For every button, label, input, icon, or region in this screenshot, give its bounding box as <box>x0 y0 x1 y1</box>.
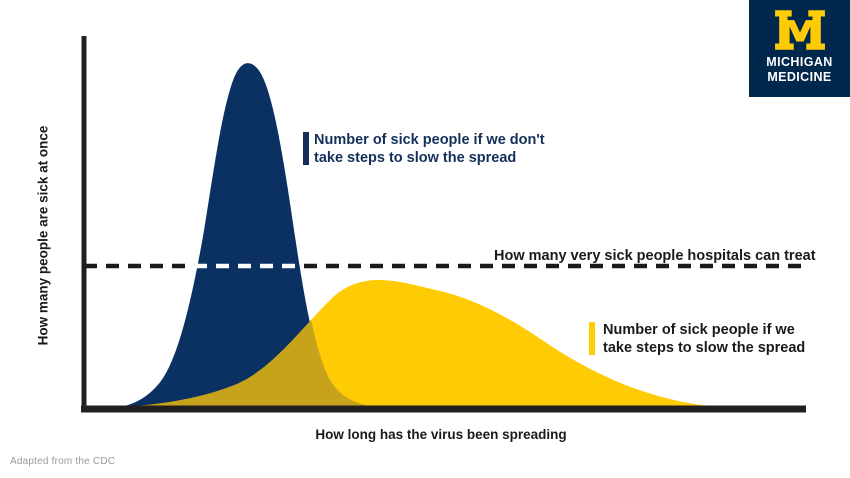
infographic-canvas: Number of sick people if we don't take s… <box>0 0 850 478</box>
y-axis-label: How many people are sick at once <box>36 121 51 351</box>
michigan-medicine-logo: MICHIGAN MEDICINE <box>749 0 850 97</box>
yellow-callout-marker <box>589 322 595 355</box>
x-axis-label: How long has the virus been spreading <box>0 427 850 442</box>
logo-wordmark: MICHIGAN MEDICINE <box>749 55 850 85</box>
hospital-capacity-label: How many very sick people hospitals can … <box>494 248 816 264</box>
epidemic-curve-chart <box>0 0 850 478</box>
logo-wordmark-line2: MEDICINE <box>749 70 850 85</box>
unmitigated-callout-label: Number of sick people if we don't take s… <box>314 131 549 167</box>
block-m-icon <box>774 9 826 51</box>
attribution-text: Adapted from the CDC <box>10 456 115 467</box>
logo-wordmark-line1: MICHIGAN <box>749 55 850 70</box>
blue-callout-marker <box>303 132 309 165</box>
mitigated-callout-label: Number of sick people if we take steps t… <box>603 321 823 357</box>
